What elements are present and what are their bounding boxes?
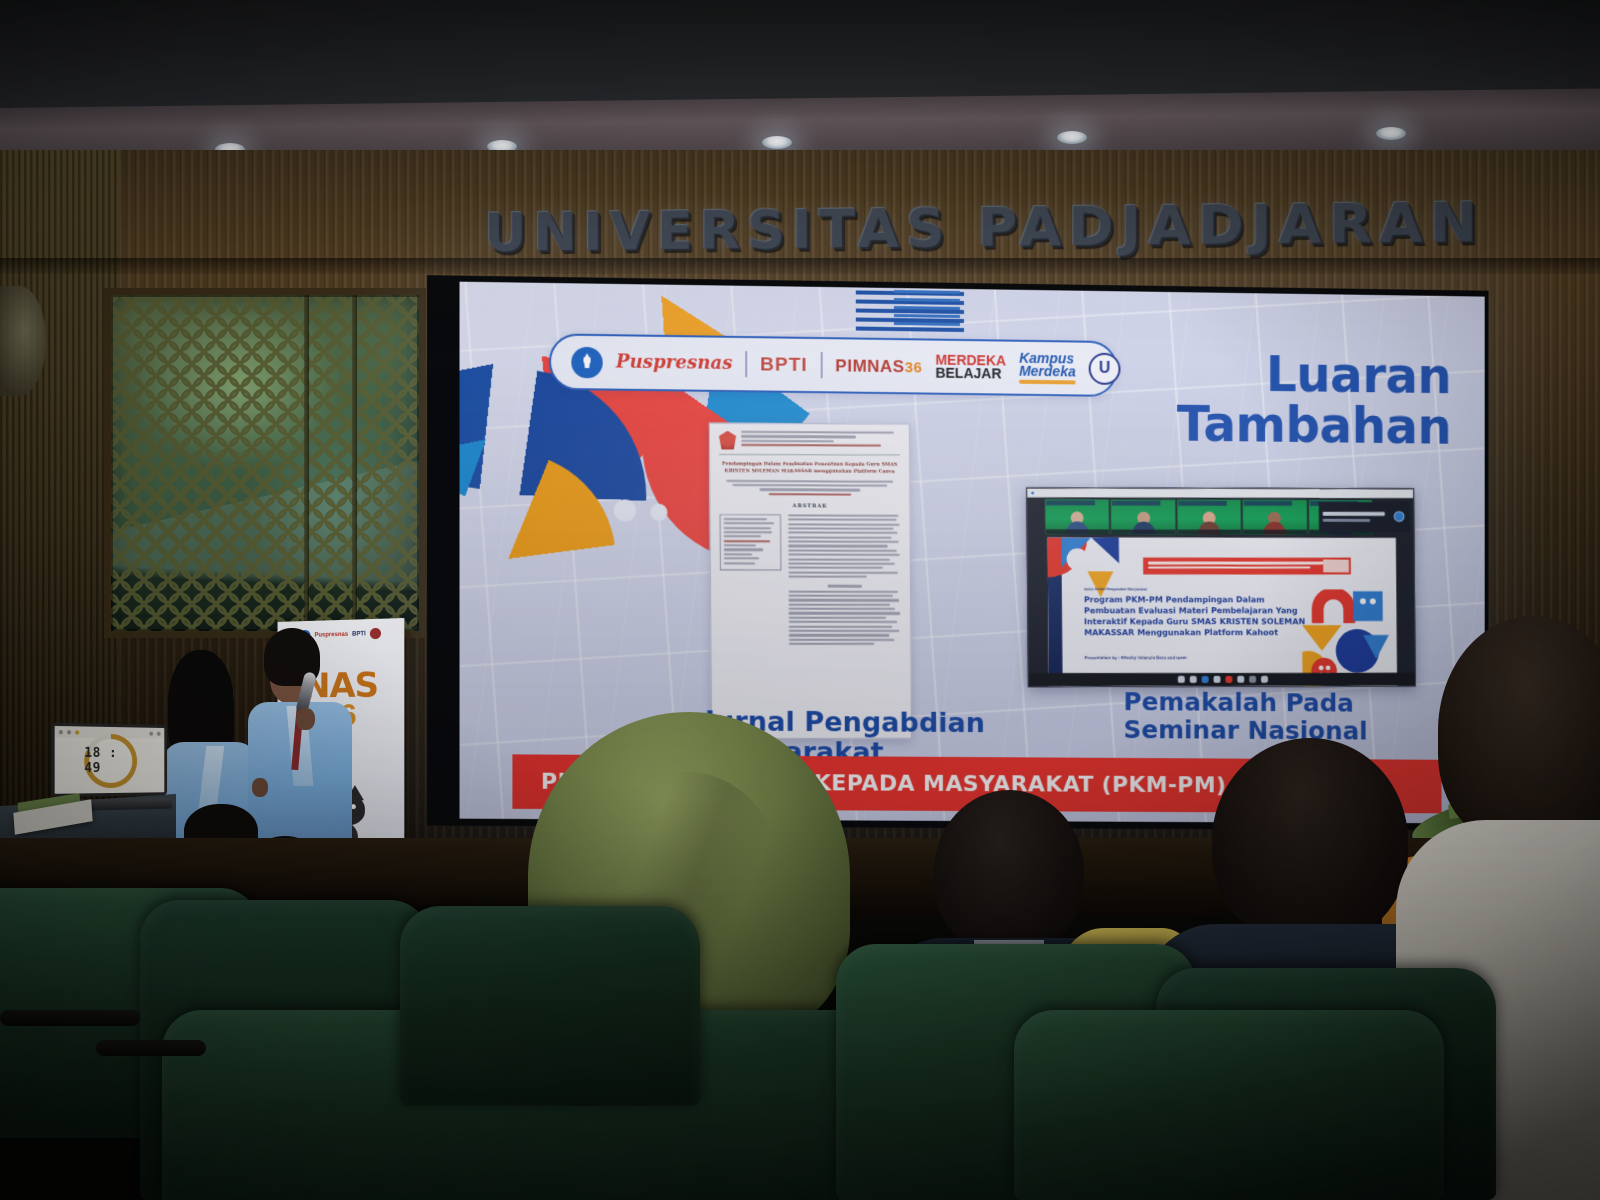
puspresnas-logo: Puspresnas [616, 353, 732, 373]
bpti-logo: BPTI [760, 355, 808, 375]
zoom-participant-tile [1243, 500, 1307, 535]
deco-stripes-2 [894, 290, 960, 331]
downlight-icon [762, 136, 792, 149]
zoom-slide-title: Program PKM-PM Pendampingan Dalam Pembua… [1084, 594, 1312, 637]
zoom-meeting-screenshot: Judul Artikel Pengabdian Masyarakat Prog… [1026, 487, 1416, 687]
zoom-mic-icon[interactable] [1177, 676, 1184, 683]
zoom-slide-presenter: Presentation by : Rhesky Valencia Baru a… [1084, 655, 1282, 660]
rollup-unpad-icon [370, 628, 381, 639]
timer-close-icon[interactable] [157, 731, 161, 735]
timer-value: 18 : 49 [84, 746, 137, 776]
lattice-frame [104, 288, 426, 638]
merdeka-belajar-logo: MERDEKA BELAJAR [935, 354, 1006, 381]
zoom-participant-tile [1111, 500, 1175, 535]
zoom-video-icon[interactable] [1189, 676, 1196, 683]
headline-line-2: Tambahan [1026, 397, 1451, 453]
logo-divider [746, 351, 748, 377]
paper-abstract-column [788, 514, 901, 647]
auditorium-scene: UNIVERSITAS PADJADJARAN Puspresnas [0, 0, 1600, 1200]
merdeka-line2: BELAJAR [935, 367, 1006, 381]
paper-meta-column [720, 514, 783, 647]
zoom-reactions-icon[interactable] [1249, 676, 1256, 683]
rollup-bpti-logo: BPTI [352, 631, 366, 637]
slide-headline: Luaran Tambahan [1026, 346, 1451, 454]
wall-sign-universitas-padjadjaran: UNIVERSITAS PADJADJARAN [489, 186, 1479, 266]
journal-article-thumbnail: Pendampingan Dalam Pembuatan Penentuan K… [709, 423, 912, 739]
timer-fullscreen-icon[interactable] [149, 731, 153, 735]
pimnas-edition: 36 [905, 359, 923, 376]
presenter-1-hand [252, 778, 268, 797]
pimnas-label: PIMNAS [835, 356, 904, 376]
seat [400, 906, 700, 1106]
presenter-2-hand [296, 708, 315, 730]
paper-masthead [719, 431, 900, 456]
timer-menu-icon[interactable] [59, 730, 63, 734]
paper-title: Pendampingan Dalam Pembuatan Penentuan K… [719, 462, 900, 476]
downlight-icon [1376, 127, 1406, 140]
seat [1014, 1010, 1444, 1200]
zoom-share-icon[interactable] [1225, 676, 1232, 683]
logo-divider [821, 352, 823, 378]
paper-masthead-lines [741, 431, 900, 449]
deco-dot [614, 499, 636, 521]
paper-authors [719, 480, 900, 495]
zoom-participant-tile [1045, 499, 1109, 534]
journal-logo-icon [719, 431, 736, 450]
seat-armrest [96, 1040, 206, 1056]
timer-progress-ring: 18 : 49 [84, 734, 137, 789]
zoom-more-icon[interactable] [1261, 676, 1268, 683]
zoom-participant-tile [1177, 500, 1241, 535]
seat-armrest [0, 1010, 140, 1026]
laptop-screen: 18 : 49 [52, 723, 168, 797]
timer-settings-icon[interactable] [75, 730, 79, 734]
zoom-chat-icon[interactable] [1213, 676, 1220, 683]
zoom-slide-kicker: Judul Artikel Pengabdian Masyarakat [1084, 587, 1147, 591]
paper-abstract-heading: ABSTRAK [719, 503, 900, 510]
kemendikbud-logo-icon [571, 346, 602, 378]
timer-minimize-icon[interactable] [67, 730, 71, 734]
audience-head [1212, 738, 1408, 944]
zoom-participants-icon[interactable] [1201, 676, 1208, 683]
deco-dot [650, 504, 667, 521]
headline-line-1: Luaran [1026, 346, 1451, 403]
caption-seminar-line1: Pemakalah Pada [1123, 688, 1419, 718]
zoom-meeting-id-badge [1319, 502, 1410, 532]
pimnas-logo: PIMNAS36 [835, 357, 922, 375]
paper-title-line2: KRISTEN SOLEMAN MAKASSAR menggunakan Pla… [719, 468, 900, 475]
zoom-slide-red-header [1143, 557, 1351, 574]
zoom-camera-icon [1394, 511, 1405, 522]
zoom-slide-red-tab [1323, 560, 1349, 573]
audience-head [934, 790, 1084, 954]
downlight-icon [1057, 131, 1087, 144]
zoom-toolbar [1029, 673, 1415, 686]
decorative-lattice-screen [104, 288, 426, 638]
paper-columns [720, 514, 902, 647]
zoom-window-titlebar [1027, 488, 1413, 498]
zoom-shared-slide: Judul Artikel Pengabdian Masyarakat Prog… [1047, 537, 1397, 687]
zoom-record-icon[interactable] [1237, 676, 1244, 683]
